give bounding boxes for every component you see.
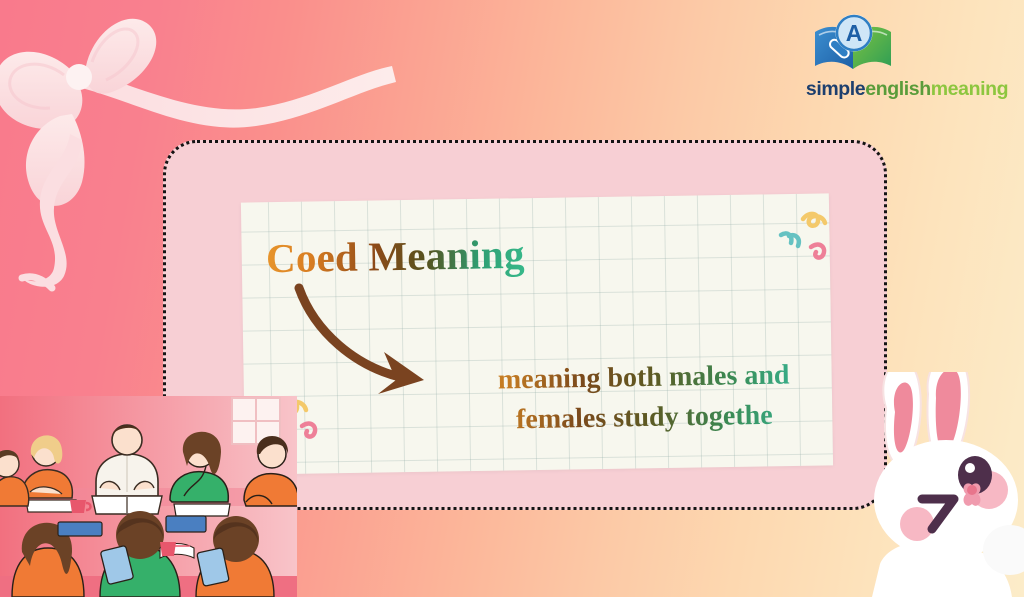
logo-wordmark: simpleenglishmeaning [800,78,1014,101]
cartoon-bunny [862,372,1024,597]
book-with-magnifier-a-icon: A [810,14,896,76]
classroom-students-illustration [0,396,297,597]
logo-word-meaning: meaning [931,78,1008,100]
definition-line-1: meaning both males and [447,355,840,402]
definition-line-2: females study togethe [448,395,841,442]
definition-text: meaning both males and females study tog… [447,355,840,442]
page-title: Coed Meaning [266,230,525,283]
decorative-squiggles-right [775,205,839,261]
logo-word-english: english [865,78,930,100]
logo-word-simple: simple [806,78,865,100]
site-logo[interactable]: A simpleenglishmeaning [800,14,1014,114]
curved-arrow-icon [292,282,452,400]
logo-letter-a: A [846,20,863,46]
